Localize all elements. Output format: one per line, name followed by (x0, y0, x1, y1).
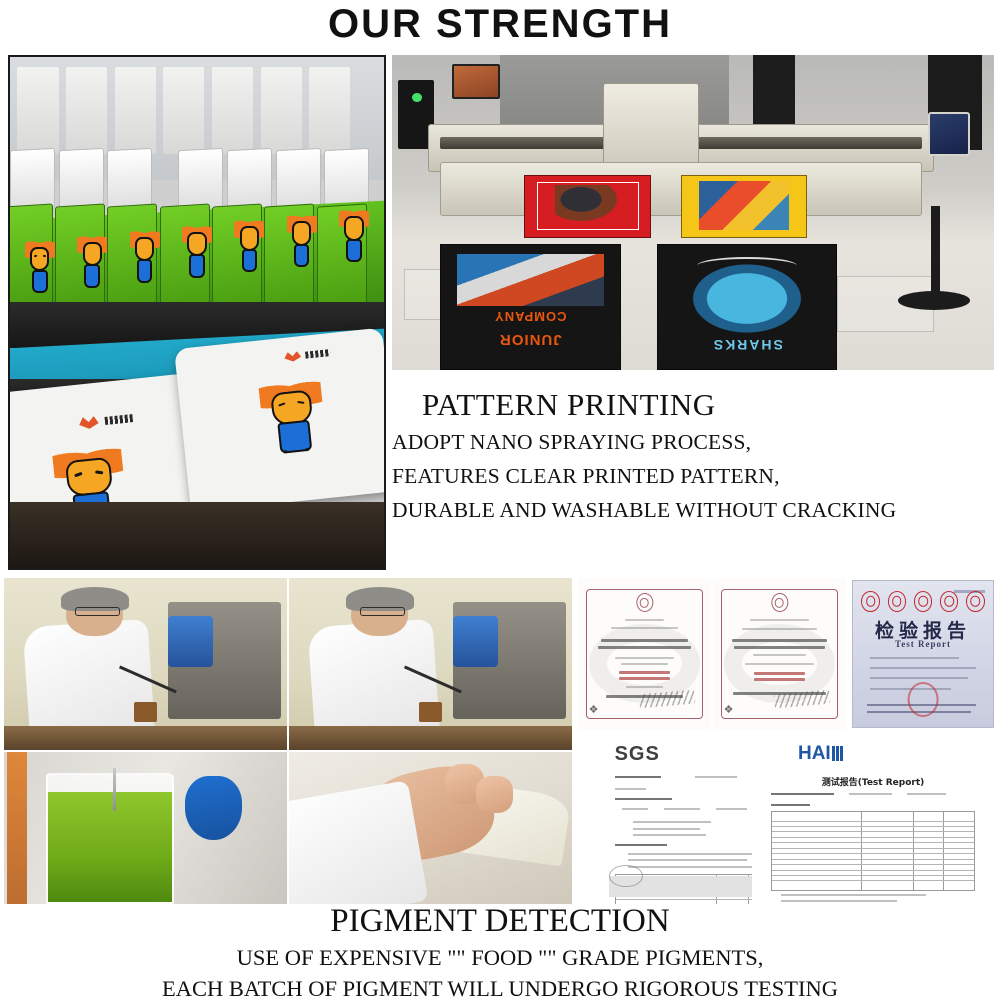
foreground-shirt (174, 328, 386, 513)
bull-mascot-print (234, 215, 264, 276)
results-table (771, 811, 974, 891)
certificate-text-line (625, 619, 665, 621)
report-text-line (633, 828, 701, 830)
table-row (772, 842, 973, 843)
brand-wordmark (305, 349, 331, 358)
hanging-shirt (309, 67, 350, 154)
bull-head (344, 216, 363, 241)
report-field-row (870, 677, 968, 679)
blue-equipment (185, 776, 242, 840)
bull-overalls (84, 264, 100, 287)
cal-badge-icon (966, 591, 984, 611)
report-text-line (633, 821, 711, 823)
report-text-line (615, 788, 646, 790)
certificate-text-line (611, 627, 678, 629)
table-row (772, 880, 973, 881)
bull-head (240, 226, 259, 251)
print-artwork (699, 181, 789, 230)
hai-test-report: HAI 测试报告(Test Report) (752, 738, 994, 904)
bull-mascot-print (182, 221, 212, 282)
printed-shirt (107, 148, 152, 212)
hai-logo-bars-icon (832, 746, 843, 761)
certificate-page: ❖ (578, 578, 711, 730)
certificate-text-line (745, 663, 814, 665)
table-row (772, 875, 973, 876)
shark-banner-arc (697, 257, 797, 274)
lab-bench (289, 726, 572, 750)
bull-mascot-print (339, 205, 369, 266)
yellow-print-plate (681, 175, 807, 238)
table-row (772, 853, 973, 854)
table-row (772, 870, 973, 871)
certificate-text-line (601, 639, 689, 642)
certificate-standard-line (754, 672, 805, 675)
blue-mixer-motor (453, 616, 498, 668)
report-title-english: Test Report (853, 639, 993, 649)
lab-bench (4, 726, 287, 750)
bull-head (292, 221, 311, 246)
brand-logo-icon (79, 416, 100, 430)
print-artwork (555, 185, 617, 220)
report-footnote-line (781, 894, 926, 896)
glass-beaker (46, 773, 173, 904)
stirring-rod (113, 768, 117, 811)
printed-shirt (227, 148, 272, 212)
table-column-divider (913, 812, 914, 890)
cnas-badge-icon (914, 591, 932, 611)
red-print-plate (524, 175, 650, 238)
lab-technician-photo-left (4, 578, 287, 750)
report-title-chinese: 测试报告 (822, 778, 858, 788)
report-field-row (870, 657, 960, 659)
sgs-logo: SGS (615, 743, 660, 766)
bull-overalls (32, 270, 48, 293)
bull-mascot-print (130, 226, 160, 287)
printed-shirt (10, 148, 55, 212)
blue-mixer-motor (168, 616, 213, 668)
iso-certificate-english: ❖ (713, 578, 846, 730)
workshop-floor (10, 502, 384, 568)
printed-shirt (276, 148, 321, 212)
bull-mascot-print-large (257, 374, 328, 462)
hanging-shirt (115, 67, 156, 154)
certificate-standard-line (754, 678, 805, 681)
certificate-page: ❖ (713, 578, 846, 730)
report-title: 测试报告(Test Report) (752, 775, 994, 788)
table-header-row (772, 821, 973, 822)
report-text-line (622, 808, 648, 810)
bull-overalls (189, 254, 205, 277)
certificate-standard-line (619, 677, 670, 680)
certificate-text-line (598, 646, 691, 649)
light-stand-base (898, 291, 970, 310)
table-column-divider (943, 812, 944, 890)
report-field-row (870, 667, 976, 669)
bull-mascot-print (77, 231, 107, 292)
report-page: HAI 测试报告(Test Report) (752, 738, 994, 904)
report-text-line (628, 859, 748, 861)
certificate-text-line (753, 654, 806, 656)
ccc-badge-icon (861, 591, 879, 611)
printer-control-screen[interactable] (928, 112, 970, 156)
pattern-printing-caption: PATTERN PRINTING ADOPT NANO SPRAYING PRO… (392, 385, 998, 527)
printed-shirt (59, 148, 104, 212)
bull-overalls (242, 249, 258, 272)
printed-shirt (178, 148, 223, 212)
hanging-shirt (17, 67, 58, 154)
hanging-shirt (212, 67, 253, 154)
report-meta-line (771, 793, 834, 795)
light-stand-pole (931, 206, 939, 301)
sample-bottle (419, 702, 442, 723)
safety-glasses-icon (360, 607, 405, 616)
black-print-plate-sharks: SHARKS (657, 244, 838, 370)
screen-printing-carousel-photo (8, 55, 386, 570)
safety-glasses-icon (75, 607, 120, 616)
table-row (772, 826, 973, 827)
bull-head (135, 237, 154, 262)
print-artwork (457, 254, 603, 306)
certificate-text-line (615, 657, 674, 659)
white-coat-sleeve (289, 780, 429, 904)
certificate-text-line (750, 619, 809, 621)
table-row (772, 864, 973, 865)
certificate-standard-line (619, 671, 670, 674)
bull-mascot-print (25, 236, 55, 297)
table-row (772, 848, 973, 849)
bull-head (30, 247, 49, 272)
bull-head (187, 232, 206, 257)
print-text-sharks: SHARKS (658, 337, 837, 353)
official-red-stamp-icon (908, 682, 939, 717)
pattern-line-2: FEATURES CLEAR PRINTED PATTERN, (392, 459, 998, 493)
bull-leg (284, 450, 288, 454)
pattern-heading: PATTERN PRINTING (392, 385, 998, 425)
bull-mascot-print (287, 210, 317, 271)
green-pigment-liquid (48, 792, 171, 902)
bull-overalls (137, 259, 153, 282)
hanging-shirt (261, 67, 302, 154)
finger (476, 776, 513, 812)
wall-panel (753, 55, 795, 131)
pigment-detection-caption: PIGMENT DETECTION USE OF EXPENSIVE "" FO… (0, 900, 1000, 1004)
bull-overalls (294, 244, 310, 267)
report-meta-line (907, 793, 946, 795)
hai-logo-text: HAI (798, 743, 831, 764)
report-title-english: (Test Report) (858, 778, 924, 788)
table-row (772, 831, 973, 832)
sample-bottle (134, 702, 157, 723)
page-title: OUR STRENGTH (0, 2, 1000, 46)
certificate-text-line (621, 663, 669, 665)
bull-eye (278, 402, 286, 407)
black-print-plate-junior: COMPANY JUNIOR (440, 244, 621, 370)
report-meta-line (849, 793, 893, 795)
promo-page: OUR STRENGTH (0, 0, 1000, 1000)
control-tablet[interactable] (452, 64, 500, 99)
pigment-line-2: EACH BATCH OF PIGMENT WILL UNDERGO RIGOR… (0, 973, 1000, 1004)
report-section-line (615, 844, 667, 846)
bull-eye (74, 471, 82, 476)
table-row (772, 859, 973, 860)
certificate-company-line (734, 646, 824, 649)
print-text-company: COMPANY (441, 309, 620, 324)
fabric-inspection-photo (289, 752, 572, 904)
pattern-line-1: ADOPT NANO SPRAYING PROCESS, (392, 425, 998, 459)
certificate-mark-icon: ❖ (724, 703, 734, 716)
bull-overalls (346, 239, 362, 262)
bull-eye (34, 255, 37, 257)
pattern-line-3: DURABLE AND WASHABLE WITHOUT CRACKING (392, 493, 998, 527)
report-text-line (716, 808, 747, 810)
bull-head (83, 242, 102, 267)
report-section-line (615, 798, 672, 800)
bull-eye (95, 470, 103, 474)
report-text-line (664, 808, 700, 810)
bull-eye (297, 401, 304, 404)
uv-flatbed-printer-photo: COMPANY JUNIOR SHARKS (392, 55, 994, 370)
green-pigment-beaker-photo (4, 752, 287, 904)
table-row (772, 837, 973, 838)
cqc-badge-icon (888, 591, 906, 611)
brand-logo-icon (284, 351, 302, 362)
report-heading-line (615, 776, 662, 778)
table-column-divider (861, 812, 862, 890)
report-page: 检验报告 Test Report (852, 580, 994, 728)
print-text-junior: JUNIOR (441, 331, 620, 348)
report-text-line (628, 853, 758, 855)
orange-background-object (7, 752, 27, 904)
bull-eye (42, 255, 45, 257)
report-meta-line (695, 776, 737, 778)
certificate-mark-icon: ❖ (589, 703, 599, 716)
iso-certificate-chinese: ❖ (578, 578, 711, 730)
hai-logo: HAI (798, 743, 843, 765)
inspection-test-report-cn: 检验报告 Test Report (852, 580, 994, 728)
lab-technician-photo-right (289, 578, 572, 750)
brand-wordmark (105, 414, 134, 426)
certificate-company-line (732, 639, 828, 642)
hanging-shirt (163, 67, 204, 154)
accreditation-badges (861, 593, 984, 611)
report-text-line (633, 834, 706, 836)
certificate-text-line (742, 628, 816, 630)
print-head-carriage (603, 83, 699, 171)
pigment-heading: PIGMENT DETECTION (0, 900, 1000, 942)
report-text-line (628, 866, 768, 868)
certificate-text-line (626, 686, 663, 688)
report-section-line (771, 804, 810, 806)
bull-leg (305, 448, 309, 452)
pigment-line-1: USE OF EXPENSIVE "" FOOD "" GRADE PIGMEN… (0, 942, 1000, 973)
bull-overalls (277, 420, 313, 454)
cma-badge-icon (940, 591, 958, 611)
hanging-shirt (66, 67, 107, 154)
